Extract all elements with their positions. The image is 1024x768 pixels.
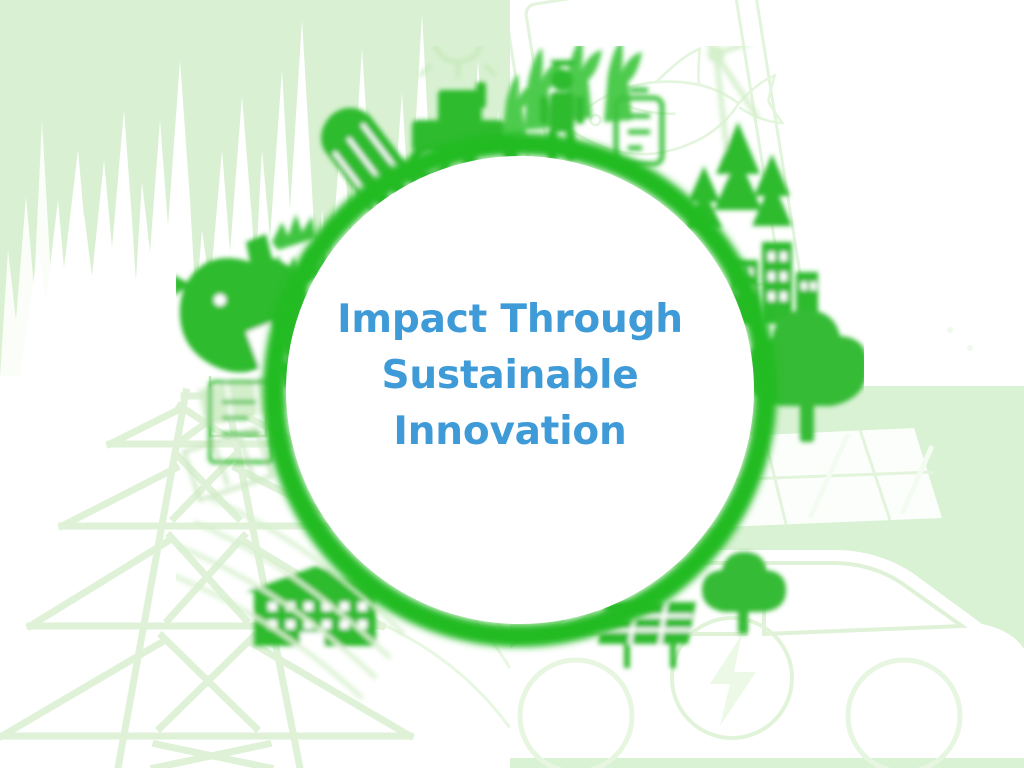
headline-line-2: Sustainable bbox=[300, 348, 720, 404]
sun-icon bbox=[406, 46, 510, 78]
page-title: Impact Through Sustainable Innovation bbox=[300, 292, 720, 459]
poster-canvas: Impact Through Sustainable Innovation bbox=[0, 0, 1024, 768]
shrub-icon bbox=[702, 552, 786, 634]
headline-line-3: Innovation bbox=[300, 404, 720, 460]
headline-line-1: Impact Through bbox=[300, 292, 720, 348]
